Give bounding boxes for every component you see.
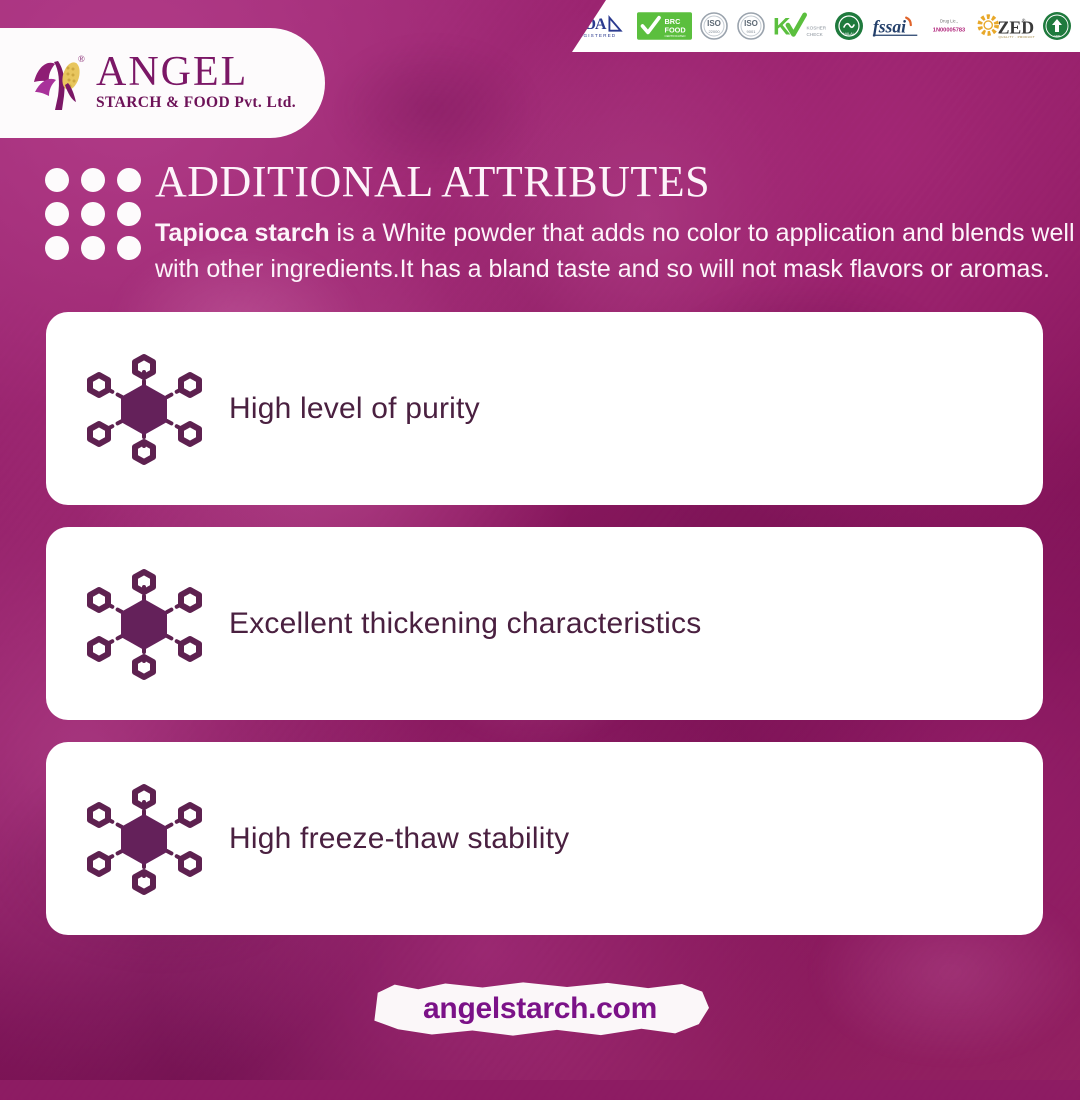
hexagon-molecule-icon bbox=[82, 565, 207, 683]
attribute-label: Excellent thickening characteristics bbox=[229, 607, 701, 641]
svg-text:REGISTERED: REGISTERED bbox=[575, 33, 617, 38]
svg-text:®: ® bbox=[1022, 17, 1026, 23]
hexagon-molecule-icon bbox=[82, 350, 207, 468]
logo-subtitle: STARCH & FOOD Pvt. Ltd. bbox=[96, 95, 296, 111]
dot-grid-decoration bbox=[45, 168, 141, 260]
registered-mark: ® bbox=[78, 54, 85, 64]
svg-text:QUALITY · PRODUCTIVITY: QUALITY · PRODUCTIVITY bbox=[999, 35, 1035, 39]
dot bbox=[81, 202, 105, 226]
dot bbox=[45, 168, 69, 192]
svg-text:22000: 22000 bbox=[708, 29, 720, 34]
svg-text:ISO: ISO bbox=[707, 19, 721, 28]
svg-text:FOOD: FOOD bbox=[665, 25, 686, 34]
dot bbox=[45, 236, 69, 260]
dot bbox=[81, 236, 105, 260]
hexagon-molecule-icon bbox=[82, 780, 207, 898]
certification-badge-bar: FDA REGISTERED BRC FOOD CERTIFICATED ISO… bbox=[572, 0, 1080, 52]
svg-text:CERTIFICATED: CERTIFICATED bbox=[665, 34, 686, 38]
svg-text:Drug Lic.,: Drug Lic., bbox=[940, 18, 958, 23]
fssai-badge: fssai bbox=[871, 11, 921, 41]
intro-paragraph: Tapioca starch is a White powder that ad… bbox=[155, 216, 1080, 287]
dot bbox=[81, 168, 105, 192]
brc-food-badge: BRC FOOD CERTIFICATED bbox=[637, 11, 692, 41]
svg-text:fssai: fssai bbox=[873, 16, 906, 36]
page-title: ADDITIONAL ATTRIBUTES bbox=[155, 160, 1055, 204]
dot bbox=[117, 236, 141, 260]
logo-wordmark: ANGEL STARCH & FOOD Pvt. Ltd. bbox=[96, 51, 296, 115]
halal-badge: HALAL bbox=[834, 11, 864, 41]
green-leaf-badge: GMP bbox=[1042, 11, 1072, 41]
logo-plate[interactable]: ® ANGEL STARCH & FOOD Pvt. Ltd. bbox=[0, 28, 325, 138]
svg-text:CHECK: CHECK bbox=[807, 32, 824, 37]
svg-text:KOSHER: KOSHER bbox=[807, 26, 827, 31]
attribute-card[interactable]: Excellent thickening characteristics bbox=[46, 527, 1043, 720]
title-block: ADDITIONAL ATTRIBUTES Tapioca starch is … bbox=[45, 160, 1055, 287]
iso-22000-badge: ISO 22000 bbox=[699, 11, 729, 41]
attribute-label: High level of purity bbox=[229, 392, 480, 426]
angel-wing-corn-logo-icon: ® bbox=[32, 52, 86, 114]
svg-text:9001: 9001 bbox=[747, 29, 757, 34]
attribute-label: High freeze-thaw stability bbox=[229, 822, 569, 856]
attribute-card-list: High level of purity Excellent thickenin… bbox=[46, 312, 1043, 957]
footer: angelstarch.com bbox=[0, 980, 1080, 1038]
attribute-card[interactable]: High level of purity bbox=[46, 312, 1043, 505]
svg-text:ISO: ISO bbox=[744, 19, 758, 28]
website-url[interactable]: angelstarch.com bbox=[423, 992, 657, 1026]
attribute-card[interactable]: High freeze-thaw stability bbox=[46, 742, 1043, 935]
dot bbox=[117, 202, 141, 226]
header: ® ANGEL STARCH & FOOD Pvt. Ltd. FDA REGI… bbox=[0, 0, 1080, 140]
kosher-check-badge: K KOSHER CHECK bbox=[773, 11, 827, 41]
intro-bold-lead: Tapioca starch bbox=[155, 219, 330, 247]
drug-licence-number: Drug Lic., 1N00005783 bbox=[928, 11, 970, 41]
svg-text:GMP: GMP bbox=[1054, 34, 1061, 38]
dot bbox=[117, 168, 141, 192]
iso-9001-badge: ISO 9001 bbox=[736, 11, 766, 41]
fda-registered-badge: FDA REGISTERED bbox=[572, 11, 630, 41]
website-brush-banner[interactable]: angelstarch.com bbox=[371, 980, 709, 1038]
dot bbox=[45, 202, 69, 226]
svg-text:1N00005783: 1N00005783 bbox=[933, 27, 965, 33]
logo-name: ANGEL bbox=[96, 51, 296, 93]
zed-badge: ZED ® QUALITY · PRODUCTIVITY bbox=[977, 11, 1035, 41]
svg-text:FDA: FDA bbox=[576, 16, 607, 33]
svg-text:HALAL: HALAL bbox=[843, 32, 854, 36]
